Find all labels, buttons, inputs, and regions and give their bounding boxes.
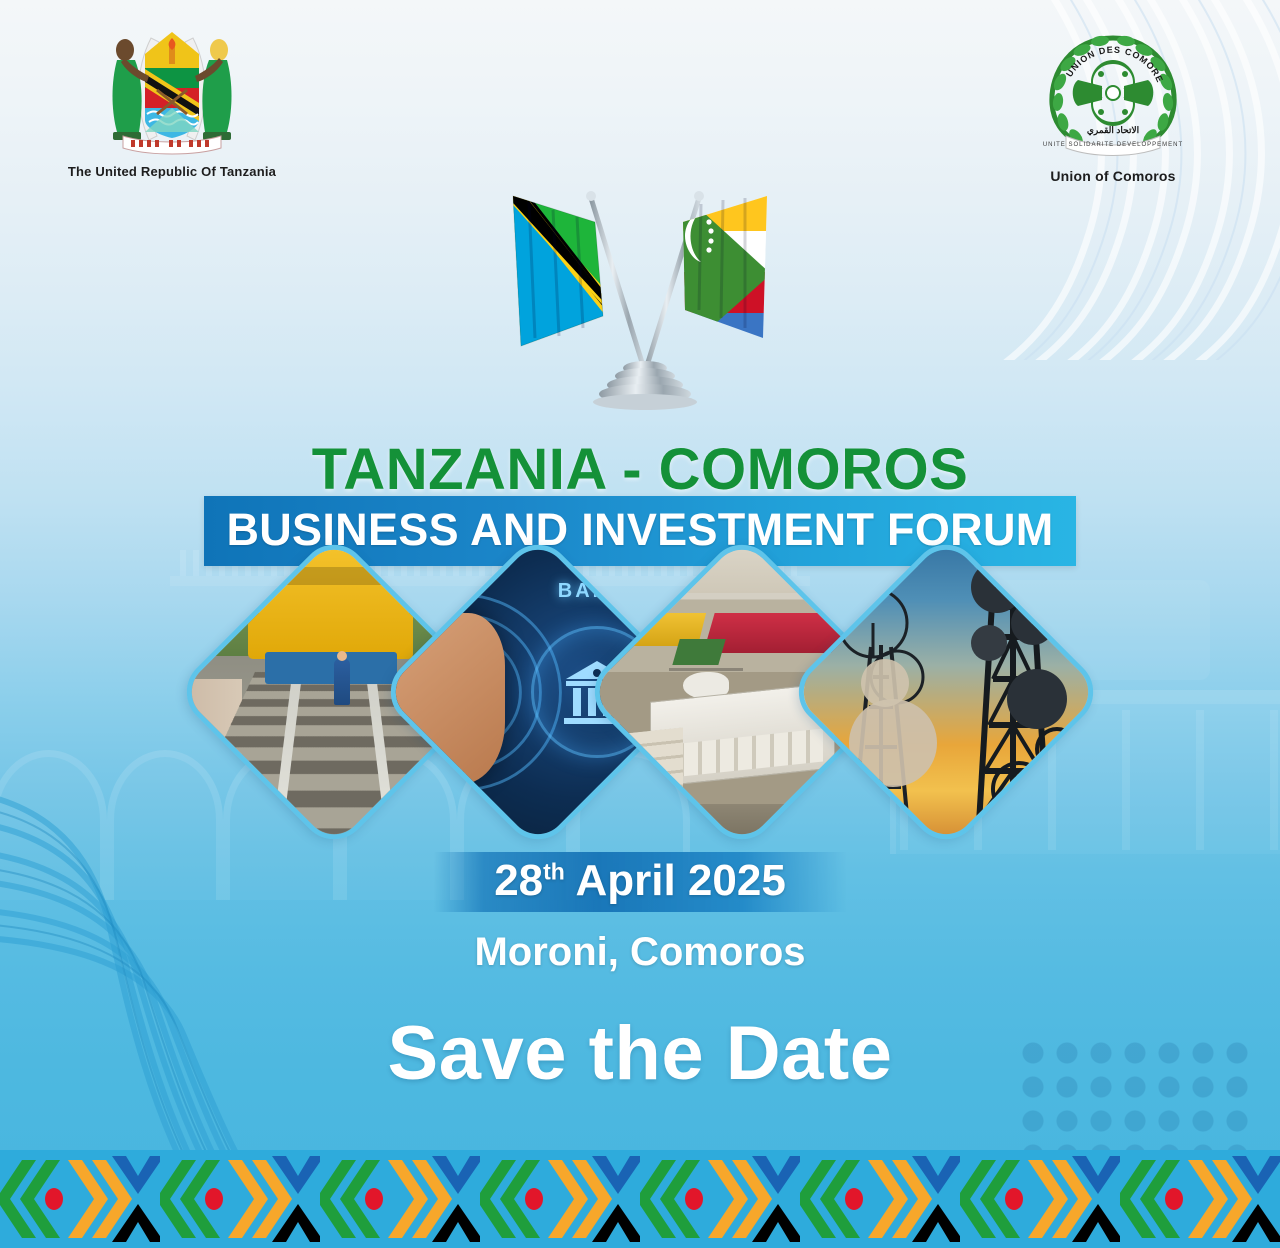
event-month-year: April 2025 xyxy=(575,856,785,905)
tanzania-emblem-caption: The United Republic Of Tanzania xyxy=(52,164,292,179)
save-the-date-text: Save the Date xyxy=(0,1010,1280,1097)
sector-diamond-telecom: Telecommunications xyxy=(785,531,1107,853)
chevron-motif xyxy=(0,1150,160,1248)
tanzania-emblem-block: The United Republic Of Tanzania xyxy=(52,24,292,179)
event-day-suffix: th xyxy=(543,858,565,884)
african-chevron-border xyxy=(0,1150,1280,1248)
comoros-emblem-block: UNION DES COMORES الاتحاد القمري UNITE S… xyxy=(998,24,1228,184)
chevron-motif xyxy=(160,1150,320,1248)
sector-diamonds: Railway Infrastructure 09 80 6 xyxy=(0,578,1280,806)
svg-text:الاتحاد القمري: الاتحاد القمري xyxy=(1087,125,1139,136)
telecommunications-image xyxy=(785,531,1107,853)
comoros-coat-of-arms-icon: UNION DES COMORES الاتحاد القمري UNITE S… xyxy=(1038,24,1188,164)
chevron-motif xyxy=(640,1150,800,1248)
telecom-towers-icon xyxy=(785,531,1107,853)
crossed-desk-flags-icon xyxy=(495,186,795,416)
tanzania-coat-of-arms-icon xyxy=(87,24,257,160)
chevron-motif xyxy=(480,1150,640,1248)
poster-canvas: The United Republic Of Tanzania xyxy=(0,0,1280,1248)
event-location: Moroni, Comoros xyxy=(0,930,1280,975)
banking-label: BANKING xyxy=(558,580,672,603)
title-band-wrap: BUSINESS AND INVESTMENT FORUM xyxy=(0,496,1280,566)
event-date-wrap: 28th April 2025 xyxy=(0,852,1280,912)
chevron-motif xyxy=(1120,1150,1280,1248)
svg-text:UNITE SOLIDARITE DEVELOPPEMENT: UNITE SOLIDARITE DEVELOPPEMENT xyxy=(1043,142,1183,148)
chevron-motif-row xyxy=(0,1150,1280,1248)
event-day: 28 xyxy=(494,856,543,905)
event-date-band: 28th April 2025 xyxy=(434,852,846,912)
event-date: 28th April 2025 xyxy=(494,856,786,906)
comoros-emblem-caption: Union of Comoros xyxy=(998,168,1228,184)
page-title: TANZANIA - COMOROS xyxy=(0,436,1280,503)
chevron-motif xyxy=(320,1150,480,1248)
chevron-motif xyxy=(800,1150,960,1248)
chevron-motif xyxy=(960,1150,1120,1248)
